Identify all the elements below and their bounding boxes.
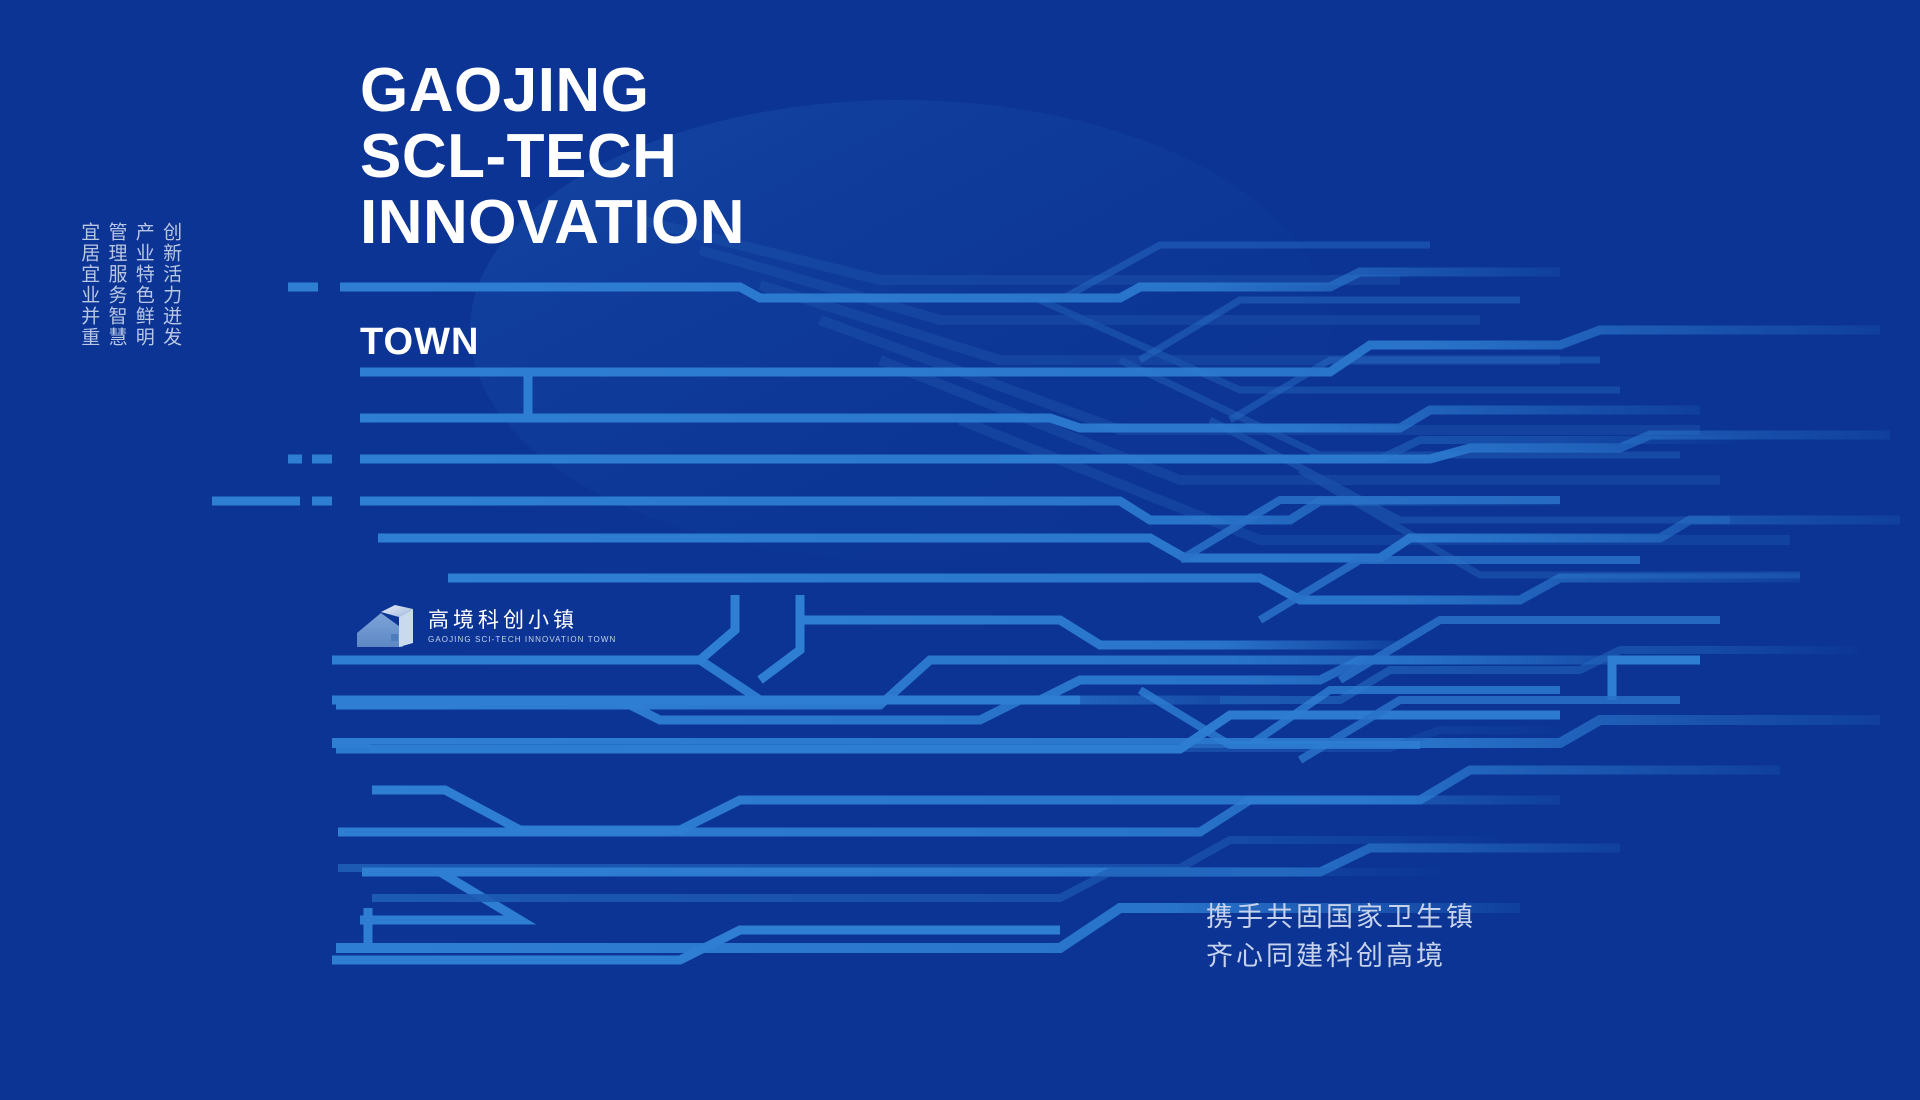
- house-building-icon: [355, 603, 417, 651]
- vertical-slogan-column-2: 产业特色鲜明: [133, 222, 154, 348]
- circuit-pattern-background: [0, 0, 1920, 1100]
- tagline: 携手共固国家卫生镇 齐心同建科创高境: [1206, 898, 1476, 976]
- page-title: GAOJING SCL-TECH INNOVATION: [360, 58, 745, 256]
- headline-line-2: SCL-TECH: [360, 124, 745, 190]
- vertical-slogan-column-1: 创新活力迸发: [160, 222, 181, 348]
- logo-text-block: 高境科创小镇 GAOJING SCI-TECH INNOVATION TOWN: [428, 610, 616, 645]
- logo-lockup: 高境科创小镇 GAOJING SCI-TECH INNOVATION TOWN: [355, 603, 616, 651]
- vertical-slogan-column-3: 管理服务智慧: [105, 222, 126, 348]
- headline-line-3: INNOVATION: [360, 190, 745, 256]
- tagline-line-2: 齐心同建科创高境: [1206, 937, 1476, 976]
- logo-english-name: GAOJING SCI-TECH INNOVATION TOWN: [428, 635, 616, 645]
- vertical-slogan: 创新活力迸发 产业特色鲜明 管理服务智慧 宜居宜业并重: [78, 222, 181, 348]
- logo-chinese-name: 高境科创小镇: [428, 610, 616, 632]
- poster-canvas: 创新活力迸发 产业特色鲜明 管理服务智慧 宜居宜业并重 GAOJING SCL-…: [0, 0, 1920, 1100]
- headline-line-4: TOWN: [360, 322, 479, 362]
- tagline-line-1: 携手共固国家卫生镇: [1206, 898, 1476, 937]
- headline-line-1: GAOJING: [360, 58, 745, 124]
- vertical-slogan-column-4: 宜居宜业并重: [78, 222, 99, 348]
